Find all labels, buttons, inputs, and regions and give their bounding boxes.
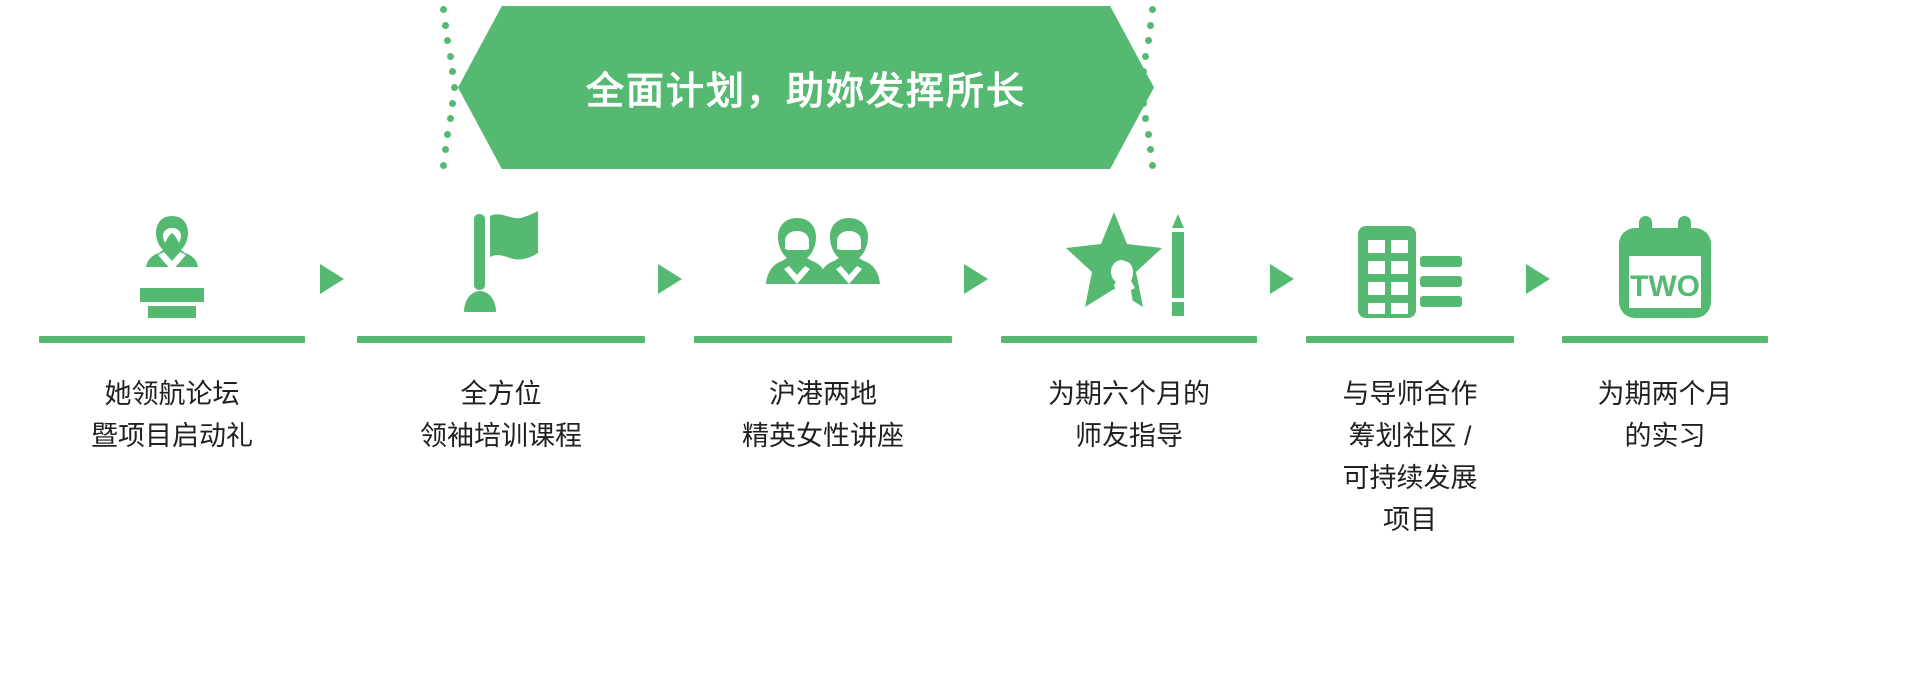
two-women-icon [694,196,952,318]
arrow-right-icon-2 [646,196,694,318]
step-1[interactable]: 她领航论坛 暨项目启动礼 [36,196,308,457]
banner-dot [440,162,447,169]
arrow-right-icon-4 [1258,196,1306,318]
step-caption: 与导师合作 筹划社区 / 可持续发展 项目 [1343,373,1478,541]
banner-dot [1145,131,1152,138]
step-6[interactable]: TWO 为期两个月 的实习 [1562,196,1768,457]
banner-dotted-border-left [440,6,458,169]
banner-dot [444,131,451,138]
header-banner: 全面计划，助妳发挥所长 [440,6,1154,169]
banner-dot [449,100,456,107]
banner-dot [1147,146,1154,153]
banner-dot [440,6,447,13]
process-steps: 她领航论坛 暨项目启动礼 全方位 领袖培训课程 [0,196,1920,541]
arrow-right-icon-5 [1514,196,1562,318]
banner-dot [1142,115,1149,122]
step-divider [694,336,952,343]
banner-dot [1145,37,1152,44]
arrow-right-icon-3 [952,196,1000,318]
calendar-two-icon: TWO [1562,196,1768,318]
step-divider [39,336,305,343]
woman-at-podium-icon [36,196,308,318]
banner-dot [447,53,454,60]
step-caption: 沪港两地 精英女性讲座 [742,373,904,457]
star-mentor-pencil-icon [1000,196,1258,318]
banner-dot [449,68,456,75]
banner-dot [1142,53,1149,60]
step-divider [1306,336,1514,343]
banner-dot [444,37,451,44]
step-5[interactable]: 与导师合作 筹划社区 / 可持续发展 项目 [1306,196,1514,541]
banner-hexagon: 全面计划，助妳发挥所长 [458,6,1154,169]
step-caption: 全方位 领袖培训课程 [420,373,582,457]
flag-icon [356,196,646,318]
step-3[interactable]: 沪港两地 精英女性讲座 [694,196,952,457]
office-building-icon [1306,196,1514,318]
banner-dot [442,22,449,29]
banner-dot [1147,22,1154,29]
banner-dot [442,146,449,153]
step-caption: 她领航论坛 暨项目启动礼 [91,373,253,457]
step-caption: 为期六个月的 师友指导 [1048,373,1210,457]
step-2[interactable]: 全方位 领袖培训课程 [356,196,646,457]
banner-dot [447,115,454,122]
banner-dot [1149,162,1156,169]
banner-dot [451,84,458,91]
banner-title: 全面计划，助妳发挥所长 [586,60,1026,115]
step-divider [357,336,645,343]
step-4[interactable]: 为期六个月的 师友指导 [1000,196,1258,457]
calendar-icon-text: TWO [1630,270,1700,303]
step-divider [1001,336,1257,343]
arrow-right-icon-1 [308,196,356,318]
step-divider [1562,336,1768,343]
banner-dot [1149,6,1156,13]
step-caption: 为期两个月 的实习 [1598,373,1733,457]
